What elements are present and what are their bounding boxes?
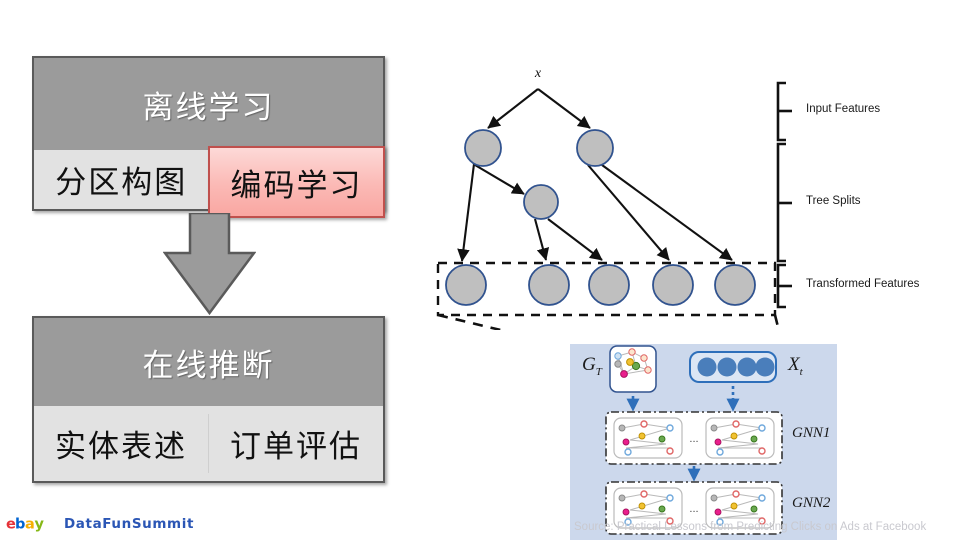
graph-input-label: GT xyxy=(582,354,602,378)
online-inference-header: 在线推断 xyxy=(34,318,383,406)
tree-leaf-4 xyxy=(653,265,693,305)
feature-input-label: Xt xyxy=(788,354,803,378)
offline-learning-title: 离线学习 xyxy=(143,82,275,127)
tree-leaf-5 xyxy=(715,265,755,305)
svg-text:b: b xyxy=(15,517,25,533)
online-cell-order[interactable]: 订单评估 xyxy=(209,406,383,481)
online-inference-body: 实体表述 订单评估 xyxy=(34,406,383,481)
decision-tree-diagram: x xyxy=(430,55,960,330)
gnn-layer-2-label: GNN2 xyxy=(792,495,830,512)
ebay-logo: e b a y xyxy=(6,513,62,535)
offline-cell-partition[interactable]: 分区构图 xyxy=(34,150,209,209)
tree-node-split-3 xyxy=(524,185,558,219)
tree-node-split-2 xyxy=(577,130,613,166)
encoding-learning-highlight-box[interactable]: 编码学习 xyxy=(208,146,385,218)
datafunsummit-label: DataFunSummit xyxy=(64,516,194,532)
projection-dashed-lines xyxy=(438,315,785,330)
svg-text:y: y xyxy=(35,517,45,533)
tree-brackets xyxy=(778,83,792,307)
gnn-layer-1-container: ... xyxy=(606,412,782,464)
tree-edges xyxy=(462,89,732,261)
tree-leaf-2 xyxy=(529,265,569,305)
bracket-label-input-features: Input Features xyxy=(806,103,880,115)
online-inference-title: 在线推断 xyxy=(143,340,275,385)
graph-thumbnail xyxy=(610,346,656,392)
online-inference-box[interactable]: 在线推断 实体表述 订单评估 xyxy=(32,316,385,483)
gnn-layer-1-ellipsis: ... xyxy=(689,433,698,445)
bracket-label-tree-splits: Tree Splits xyxy=(806,195,861,207)
tree-root-label: x xyxy=(534,66,542,81)
slide-canvas: 离线学习 分区构图 编码学习 在线推断 实体表述 订单评估 xyxy=(0,0,960,540)
tree-node-split-1 xyxy=(465,130,501,166)
tree-nodes xyxy=(446,130,755,305)
flow-down-arrow xyxy=(163,213,256,318)
svg-text:e: e xyxy=(6,517,16,533)
feature-vector-pill xyxy=(690,352,776,382)
gnn-layer-1-label: GNN1 xyxy=(792,425,830,442)
bracket-label-transformed-features: Transformed Features xyxy=(806,278,919,290)
offline-learning-header: 离线学习 xyxy=(34,58,383,150)
gnn-architecture-panel: ... xyxy=(570,344,837,540)
source-citation: Source: Practical Lessons from Predictin… xyxy=(574,521,926,533)
tree-leaf-1 xyxy=(446,265,486,305)
svg-text:a: a xyxy=(25,517,35,533)
gnn-layer-2-ellipsis: ... xyxy=(689,503,698,515)
tree-leaf-3 xyxy=(589,265,629,305)
encoding-learning-label: 编码学习 xyxy=(210,160,383,205)
online-cell-entity[interactable]: 实体表述 xyxy=(34,406,208,481)
